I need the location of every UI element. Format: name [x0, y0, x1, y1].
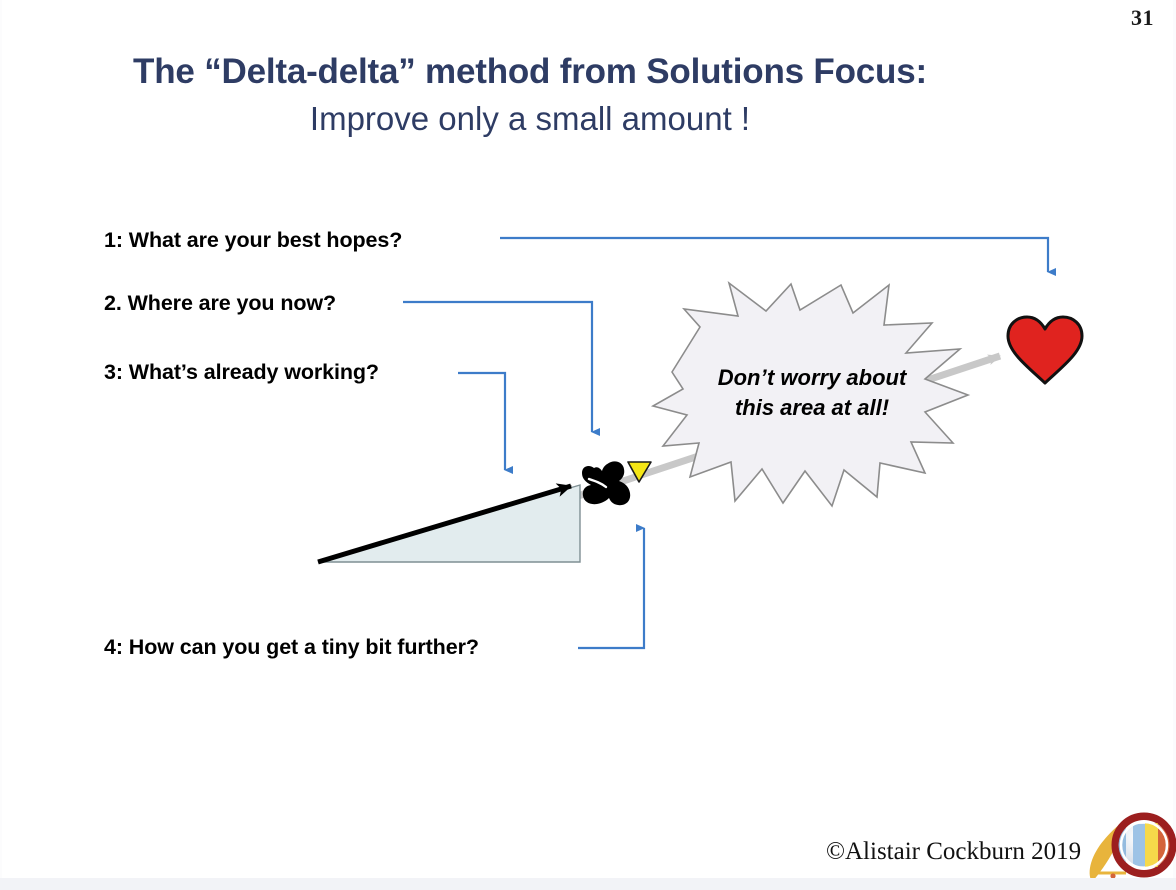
callout-line-1: Don’t worry about [688, 363, 936, 393]
slide-canvas: 31 The “Delta-delta” method from Solutio… [0, 0, 1176, 890]
connector-question-4 [578, 528, 644, 648]
alistair-cockburn-logo-icon [1090, 815, 1174, 882]
callout-line-2: this area at all! [688, 393, 936, 423]
copyright-credit: ©Alistair Cockburn 2019 [826, 838, 1081, 866]
flexed-bicep-icon [582, 461, 630, 505]
callout-text: Don’t worry about this area at all! [688, 363, 936, 423]
page-bottom-edge [0, 878, 1176, 890]
diagram-graphics-layer [0, 0, 1176, 890]
heart-icon [1008, 317, 1082, 383]
connector-question-3 [458, 373, 505, 470]
connector-question-1 [500, 238, 1048, 272]
connector-question-2 [403, 302, 592, 432]
